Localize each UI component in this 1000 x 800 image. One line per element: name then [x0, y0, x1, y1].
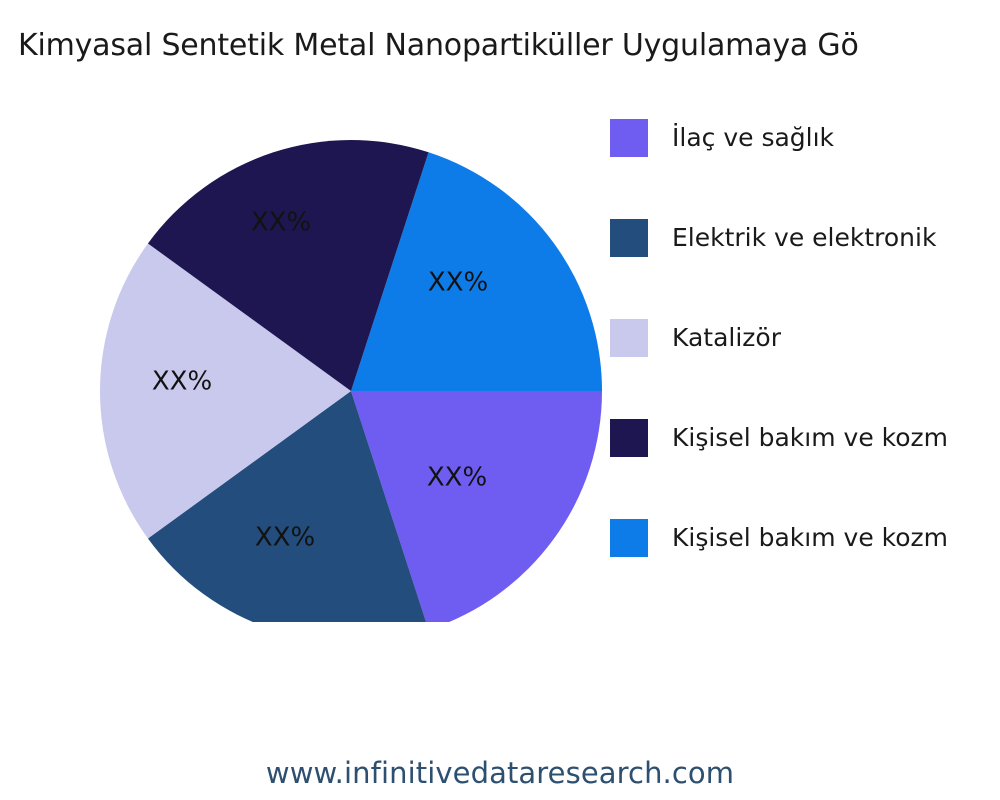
legend-swatch-katalizor	[610, 319, 648, 357]
legend-item[interactable]: İlaç ve sağlık	[610, 119, 1000, 219]
pie-slice-value-label: XX%	[251, 208, 311, 238]
pie-slice-value-label: XX%	[428, 268, 488, 298]
legend-swatch-ilac-ve-saglik	[610, 119, 648, 157]
legend-item[interactable]: Katalizör	[610, 319, 1000, 419]
legend-item-label: Elektrik ve elektronik	[672, 219, 936, 257]
legend: İlaç ve sağlıkElektrik ve elektronikKata…	[610, 119, 1000, 619]
pie-chart-svg: XX%XX%XX%XX%XX%	[100, 120, 602, 622]
pie-slice-value-label: XX%	[255, 523, 315, 553]
pie-chart-page: Kimyasal Sentetik Metal Nanopartiküller …	[0, 0, 1000, 800]
pie-slice-value-label: XX%	[427, 463, 487, 493]
legend-swatch-kisisel-bakim-ve-kozmetik-2	[610, 519, 648, 557]
legend-item[interactable]: Kişisel bakım ve kozm	[610, 519, 1000, 619]
legend-item-label: İlaç ve sağlık	[672, 119, 834, 157]
page-title: Kimyasal Sentetik Metal Nanopartiküller …	[18, 26, 1000, 66]
legend-swatch-elektrik-ve-elektronik	[610, 219, 648, 257]
pie-chart: XX%XX%XX%XX%XX%	[100, 120, 602, 622]
legend-item-label: Kişisel bakım ve kozm	[672, 519, 948, 557]
pie-slice-value-label: XX%	[152, 367, 212, 397]
legend-swatch-kisisel-bakim-ve-kozmetik-1	[610, 419, 648, 457]
legend-item[interactable]: Kişisel bakım ve kozm	[610, 419, 1000, 519]
legend-item-label: Katalizör	[672, 319, 781, 357]
legend-item[interactable]: Elektrik ve elektronik	[610, 219, 1000, 319]
source-website-url: www.infinitivedataresearch.com	[0, 756, 1000, 790]
legend-item-label: Kişisel bakım ve kozm	[672, 419, 948, 457]
